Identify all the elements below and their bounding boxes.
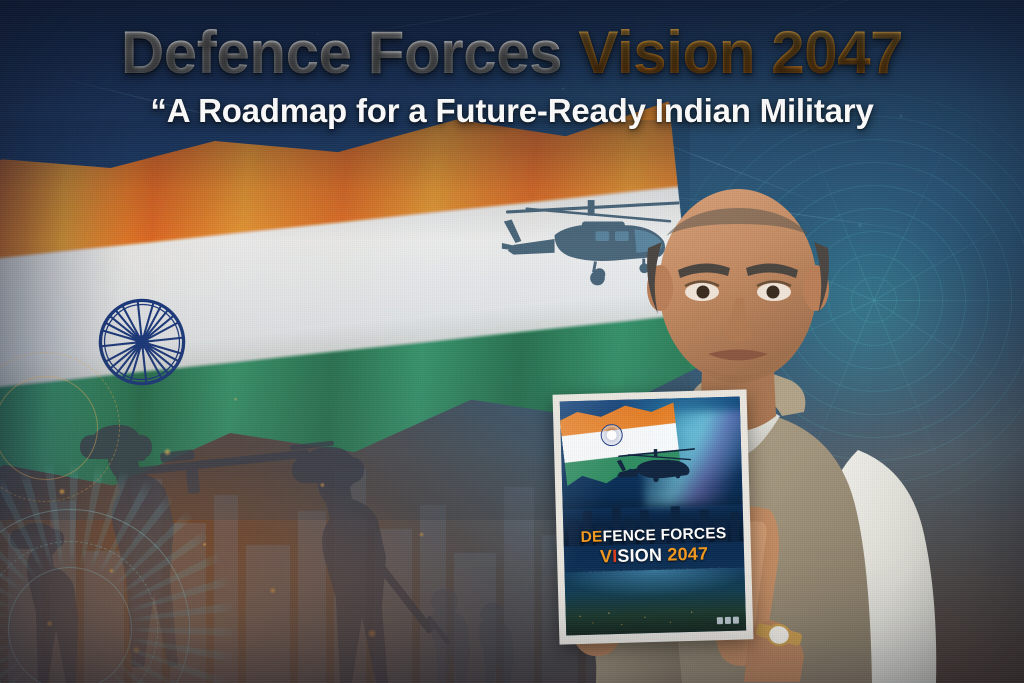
poster-badge xyxy=(725,617,731,624)
poster-badge xyxy=(733,617,739,624)
held-poster: DEFENCE FORCES VISION 2047 A ROADMAP FOR… xyxy=(553,389,754,644)
title-part-vision-2047: Vision 2047 xyxy=(578,19,903,86)
title-block: Defence Forces Vision 2047 “A Roadmap fo… xyxy=(0,22,1024,130)
poster-badges xyxy=(717,617,739,625)
poster-title-line1: DEFENCE FORCES xyxy=(563,525,743,546)
poster-title-line2: VISION 2047 xyxy=(564,544,744,567)
poster-city-lights xyxy=(565,584,746,636)
poster-helicopter xyxy=(615,437,699,495)
title-part-defence-forces: Defence Forces xyxy=(121,19,562,86)
subtitle: “A Roadmap for a Future-Ready Indian Mil… xyxy=(0,92,1024,130)
poster-badge xyxy=(717,617,723,624)
defence-vision-banner: DEFENCE FORCES VISION 2047 A ROADMAP FOR… xyxy=(0,0,1024,683)
main-title: Defence Forces Vision 2047 xyxy=(0,22,1024,84)
